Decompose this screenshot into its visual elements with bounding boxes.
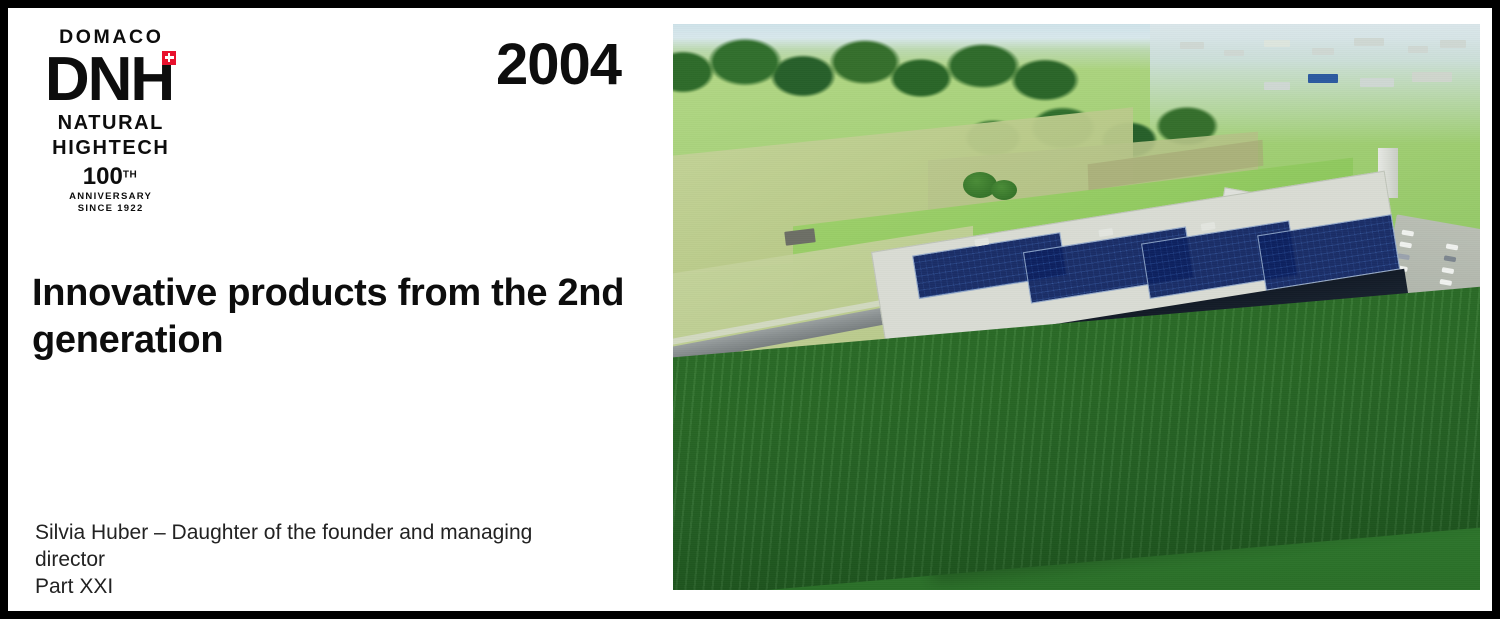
slide-frame: DOMACO DNH NATURAL HIGHTECH 100TH ANNIVE…: [0, 0, 1500, 619]
logo-anniversary-since: SINCE 1922: [30, 203, 190, 215]
left-content-column: DOMACO DNH NATURAL HIGHTECH 100TH ANNIVE…: [8, 8, 673, 611]
caption-line-3: Part XXI: [35, 573, 660, 600]
logo-line-hightech: HIGHTECH: [30, 136, 190, 161]
logo-anniversary-number-line: 100TH: [30, 165, 190, 189]
logo-anniversary-word: ANNIVERSARY: [30, 190, 190, 203]
caption-line-2: director: [35, 546, 660, 573]
slide-canvas: DOMACO DNH NATURAL HIGHTECH 100TH ANNIVE…: [8, 8, 1492, 611]
photo-tree-solitary-b: [991, 180, 1017, 200]
logo-anniversary-number: 100: [83, 163, 123, 190]
logo-monogram-wrap: DNH: [30, 49, 190, 111]
year-label: 2004: [496, 36, 621, 94]
logo-anniversary-ordinal: TH: [123, 169, 137, 180]
caption-block: Silvia Huber – Daughter of the founder a…: [35, 519, 660, 600]
logo-line-natural: NATURAL: [30, 111, 190, 136]
swiss-flag-icon: [162, 51, 176, 65]
aerial-factory-photo: domaco: [673, 24, 1480, 590]
domaco-dnh-logo: DOMACO DNH NATURAL HIGHTECH 100TH ANNIVE…: [30, 28, 190, 215]
page-title: Innovative products from the 2nd generat…: [32, 270, 652, 364]
caption-line-1: Silvia Huber – Daughter of the founder a…: [35, 519, 660, 546]
